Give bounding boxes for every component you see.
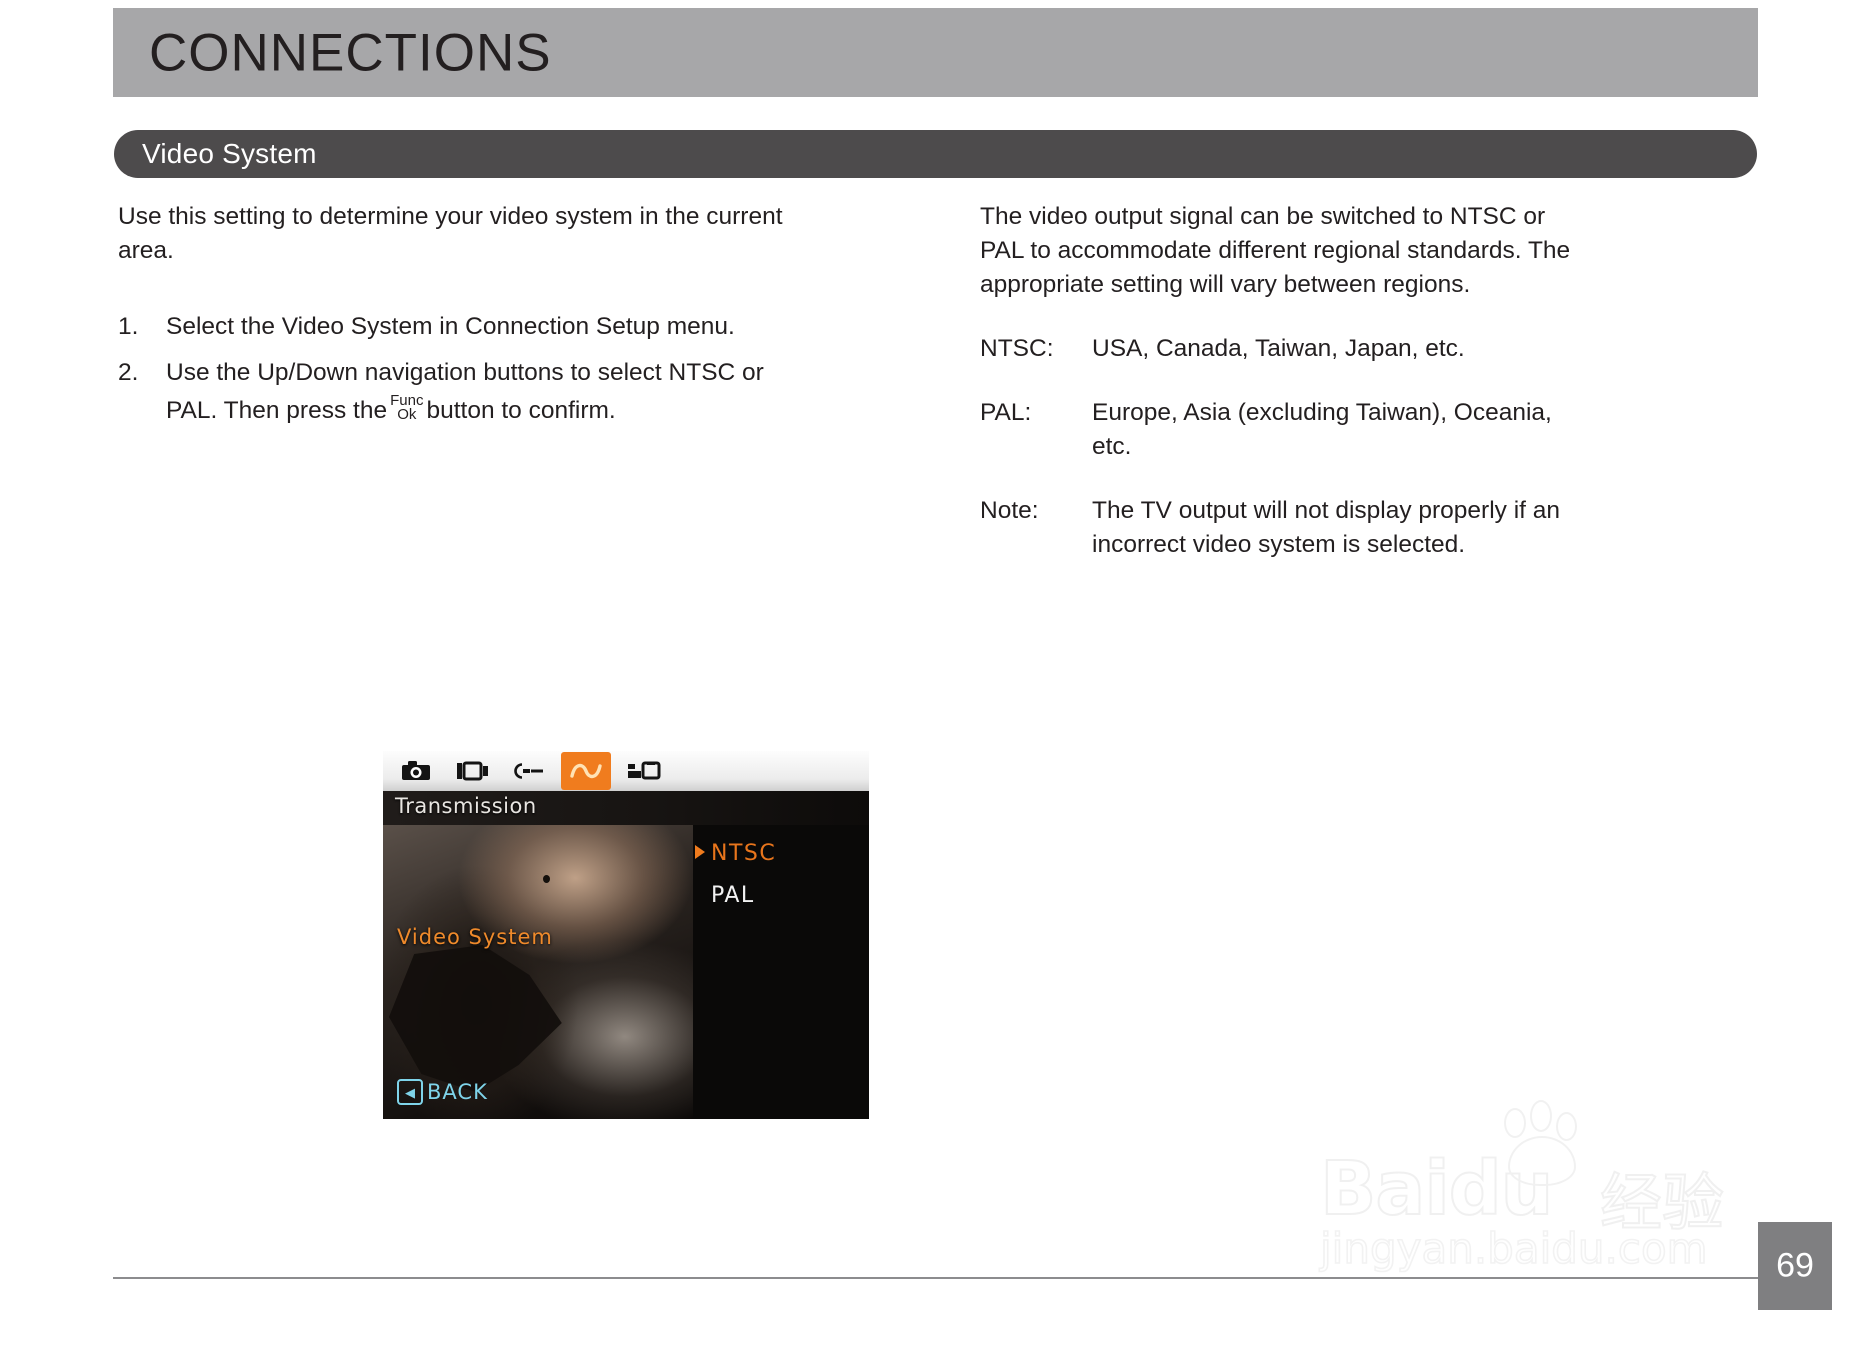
camera-back-button[interactable]: ◀ BACK — [397, 1079, 488, 1105]
definition-term-note: Note: — [980, 494, 1084, 528]
wrench-setup-icon[interactable] — [505, 753, 551, 789]
ok-label: Ok — [390, 408, 423, 422]
definition-desc-note: The TV output will not display properly … — [1092, 497, 1560, 558]
left-column: Use this setting to determine your video… — [118, 200, 794, 438]
paw-pad — [1508, 1136, 1576, 1186]
watermark-brand-cn: 经验 — [1600, 1152, 1724, 1242]
definition-term-pal: PAL: — [980, 396, 1084, 430]
paw-toe-1 — [1504, 1108, 1526, 1138]
camera-mode-icon-glyph — [401, 760, 431, 782]
footer-divider — [113, 1277, 1758, 1279]
page-number-badge: 69 — [1758, 1222, 1832, 1310]
definition-row-ntsc: NTSC: USA, Canada, Taiwan, Japan, etc. — [980, 332, 1580, 366]
step-text-1: Select the Video System in Connection Se… — [166, 313, 735, 340]
page-number: 69 — [1758, 1247, 1832, 1286]
paw-print-icon — [1488, 1098, 1598, 1184]
video-mode-icon-glyph — [456, 761, 489, 781]
camera-menu-titlebar: Transmission — [383, 791, 869, 825]
camera-mode-icon-bar — [383, 751, 869, 791]
back-label: BACK — [427, 1080, 488, 1104]
paw-toe-3 — [1556, 1112, 1577, 1141]
camera-screen-illustration: Transmission Video System ◀ BACK NTSC PA… — [383, 751, 869, 1119]
connection-icon[interactable] — [561, 752, 611, 790]
tv-output-icon-glyph — [627, 761, 661, 781]
step-item-2: 2.Use the Up/Down navigation buttons to … — [118, 354, 794, 430]
camera-option-pal[interactable]: PAL — [711, 883, 755, 908]
right-column: The video output signal can be switched … — [980, 200, 1580, 562]
intro-paragraph: Use this setting to determine your video… — [118, 200, 794, 268]
definition-desc-pal: Europe, Asia (excluding Taiwan), Oceania… — [1092, 399, 1552, 460]
baidu-watermark: Baidu 经验 jingyan.baidu.com — [1320, 1098, 1750, 1288]
video-mode-icon[interactable] — [449, 753, 495, 789]
camera-menu-title: Transmission — [395, 794, 537, 818]
photo-speck — [543, 875, 550, 883]
step-number-1: 1. — [118, 308, 158, 346]
definition-term-ntsc: NTSC: — [980, 332, 1084, 366]
definition-row-pal: PAL: Europe, Asia (excluding Taiwan), Oc… — [980, 396, 1580, 464]
camera-mode-icon[interactable] — [393, 753, 439, 789]
steps-list: 1.Select the Video System in Connection … — [118, 308, 794, 430]
photo-leaf-shape — [389, 945, 569, 1095]
tv-output-icon[interactable] — [621, 753, 667, 789]
watermark-brand: Baidu — [1320, 1146, 1552, 1232]
description-paragraph: The video output signal can be switched … — [980, 200, 1580, 302]
section-title: Video System — [142, 138, 317, 170]
chapter-header-bar: CONNECTIONS — [113, 8, 1758, 97]
definition-desc-ntsc: USA, Canada, Taiwan, Japan, etc. — [1092, 335, 1465, 362]
step-number-2: 2. — [118, 354, 158, 392]
wrench-setup-icon-glyph — [512, 762, 544, 780]
back-arrow-icon: ◀ — [397, 1079, 423, 1105]
section-header-bar: Video System — [114, 130, 1757, 178]
camera-option-pal-label: PAL — [711, 883, 755, 908]
camera-options-panel: NTSC PAL — [693, 825, 869, 1119]
camera-option-ntsc-label: NTSC — [711, 841, 776, 866]
camera-option-ntsc[interactable]: NTSC — [711, 841, 776, 866]
camera-setting-label: Video System — [397, 925, 553, 949]
step-item-1: 1.Select the Video System in Connection … — [118, 308, 794, 346]
connection-icon-glyph — [569, 761, 603, 781]
func-ok-button-glyph: FuncOk — [390, 394, 423, 422]
page-title: CONNECTIONS — [149, 22, 552, 83]
definition-row-note: Note: The TV output will not display pro… — [980, 494, 1580, 562]
selection-arrow-icon — [695, 845, 705, 859]
paw-toe-2 — [1530, 1100, 1552, 1132]
step-text-2-after: button to confirm. — [426, 397, 615, 424]
watermark-url: jingyan.baidu.com — [1320, 1224, 1708, 1273]
camera-preview-photo: Video System ◀ BACK — [383, 825, 693, 1119]
